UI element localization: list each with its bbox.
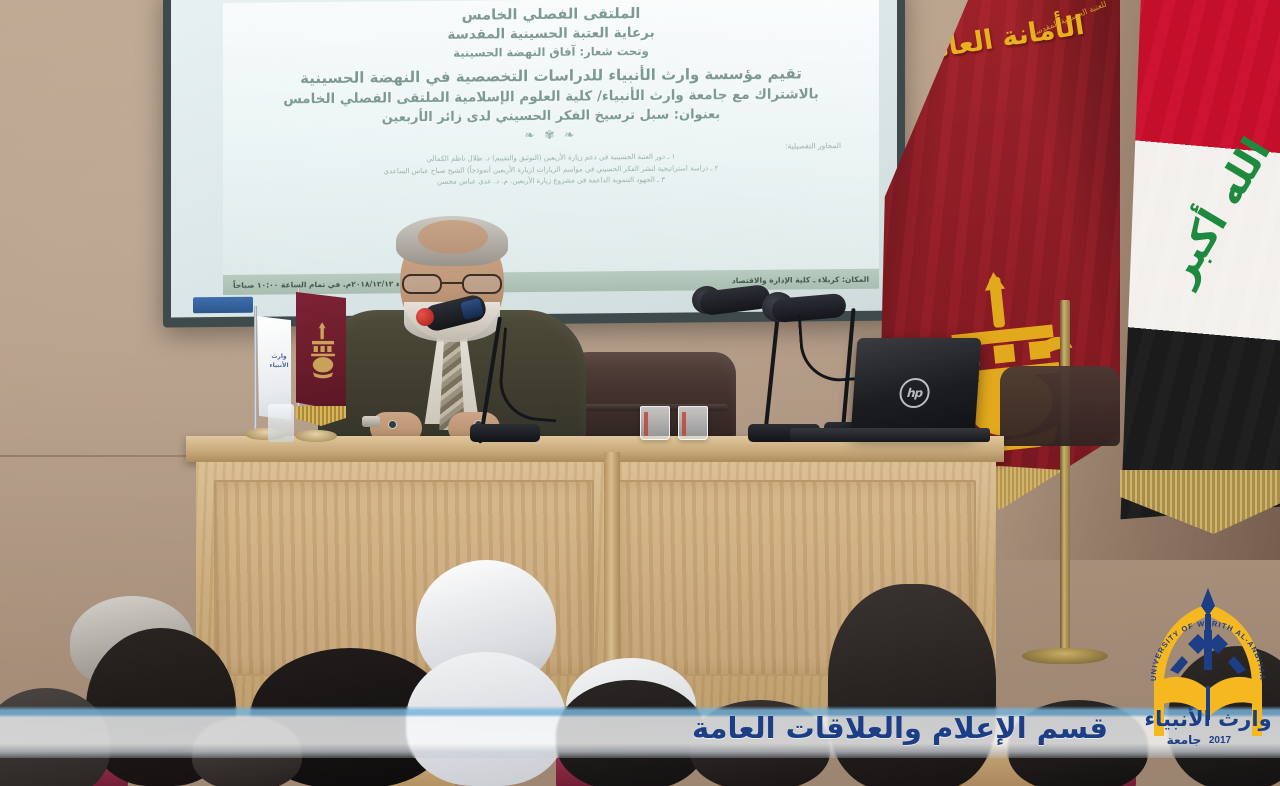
slide-line-1: الملتقى الفصلي الخامس <box>223 1 879 27</box>
desk-flag-red-fringe <box>296 406 346 426</box>
slide-line-4: تقيم مؤسسة وارث الأنبياء للدراسات التخصص… <box>223 65 879 89</box>
lens-right <box>462 274 502 294</box>
hp-logo-icon: hp <box>899 378 931 408</box>
flag-pole-base <box>1022 648 1108 664</box>
conference-photo: الملتقى الفصلي الخامس برعاية العتبة الحس… <box>0 0 1280 786</box>
slide-line-2: برعاية العتبة الحسينية المقدسة <box>223 23 879 45</box>
iraqi-flag: الله أكبر <box>1113 0 1280 528</box>
glasses-bridge <box>442 282 462 284</box>
desk-flag-white-label: وارث الأنبياء <box>266 352 292 408</box>
desk-flag-pole-white <box>254 306 257 434</box>
microphone-base-1 <box>470 424 540 442</box>
ring-left <box>388 420 397 429</box>
desk-flag-emblem-icon <box>306 320 340 384</box>
logo-calligraphy-icon <box>1170 630 1246 674</box>
eyeglasses-icon <box>402 274 502 294</box>
desk-flag-red <box>294 288 352 442</box>
slide-line-5: بالاشتراك مع جامعة وارث الأنبياء/ كلية ا… <box>223 86 879 108</box>
logo-arabic-sub: جامعة <box>1167 733 1202 747</box>
logo-arabic-main: وارث الأنبياء <box>1144 705 1271 731</box>
desk-flag-stand-red <box>295 430 337 442</box>
speaker-forehead <box>418 220 488 254</box>
glass-label <box>682 412 686 436</box>
slide-footer-place: المكان: كربلاء ـ كلية الإدارة والاقتصاد <box>732 274 869 284</box>
flag-pole <box>1060 300 1070 660</box>
water-glass-right <box>678 406 708 440</box>
wristwatch <box>362 416 380 427</box>
whiteboard-eraser <box>193 297 253 314</box>
logo-year: 2017 <box>1209 735 1232 746</box>
caption-text: قسم الإعلام والعلاقات العامة <box>692 710 1108 746</box>
desk-flag-red-cloth <box>296 292 346 412</box>
lens-left <box>402 274 442 294</box>
water-glass-left <box>640 406 670 440</box>
university-logo: UNIVERSITY OF WARITH AL-ANBIYAA وارث الأ… <box>1142 586 1274 754</box>
executive-chair-right <box>1000 366 1120 446</box>
glass-label <box>644 412 648 436</box>
laptop: hp <box>851 338 982 436</box>
water-bottle <box>268 404 294 442</box>
laptop-base <box>790 428 990 442</box>
slide-line-3: وتحت شعار: آفاق النهضة الحسينية <box>223 43 879 63</box>
